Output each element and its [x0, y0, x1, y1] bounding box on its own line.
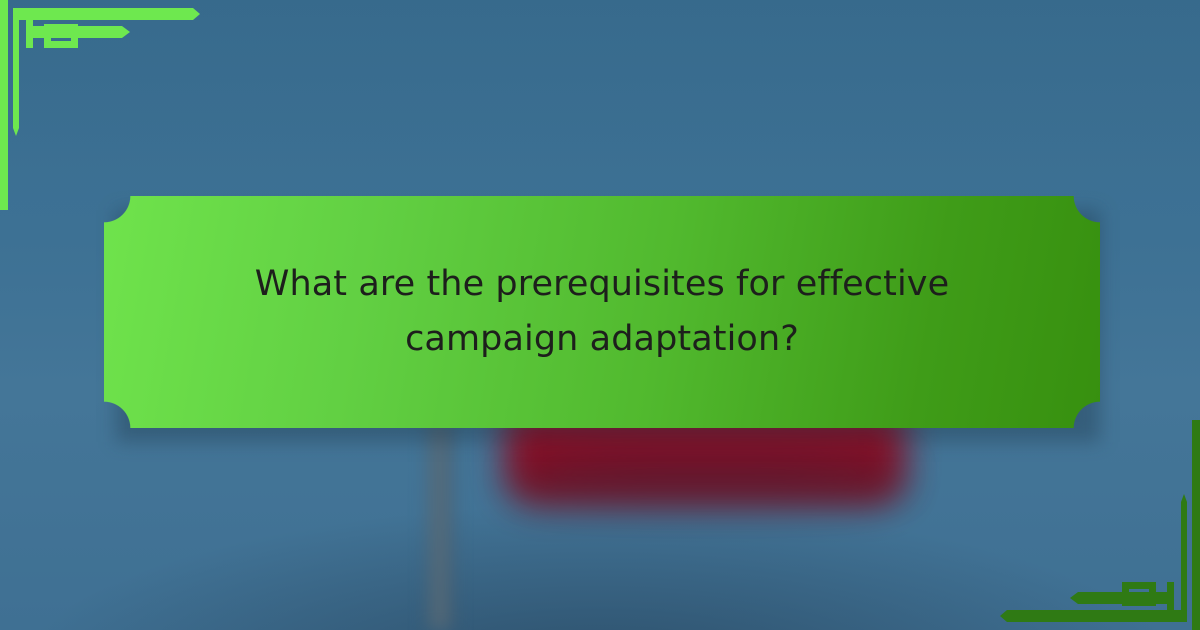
corner-bracket-top-left: [0, 0, 230, 210]
question-card: What are the prerequisites for effective…: [104, 196, 1100, 428]
corner-bracket-bottom-right: [970, 420, 1200, 630]
corner-bracket-bottom-right-icon: [970, 420, 1200, 630]
corner-bracket-top-left-icon: [0, 0, 230, 210]
question-text: What are the prerequisites for effective…: [252, 257, 952, 368]
banner-stage: What are the prerequisites for effective…: [0, 0, 1200, 630]
